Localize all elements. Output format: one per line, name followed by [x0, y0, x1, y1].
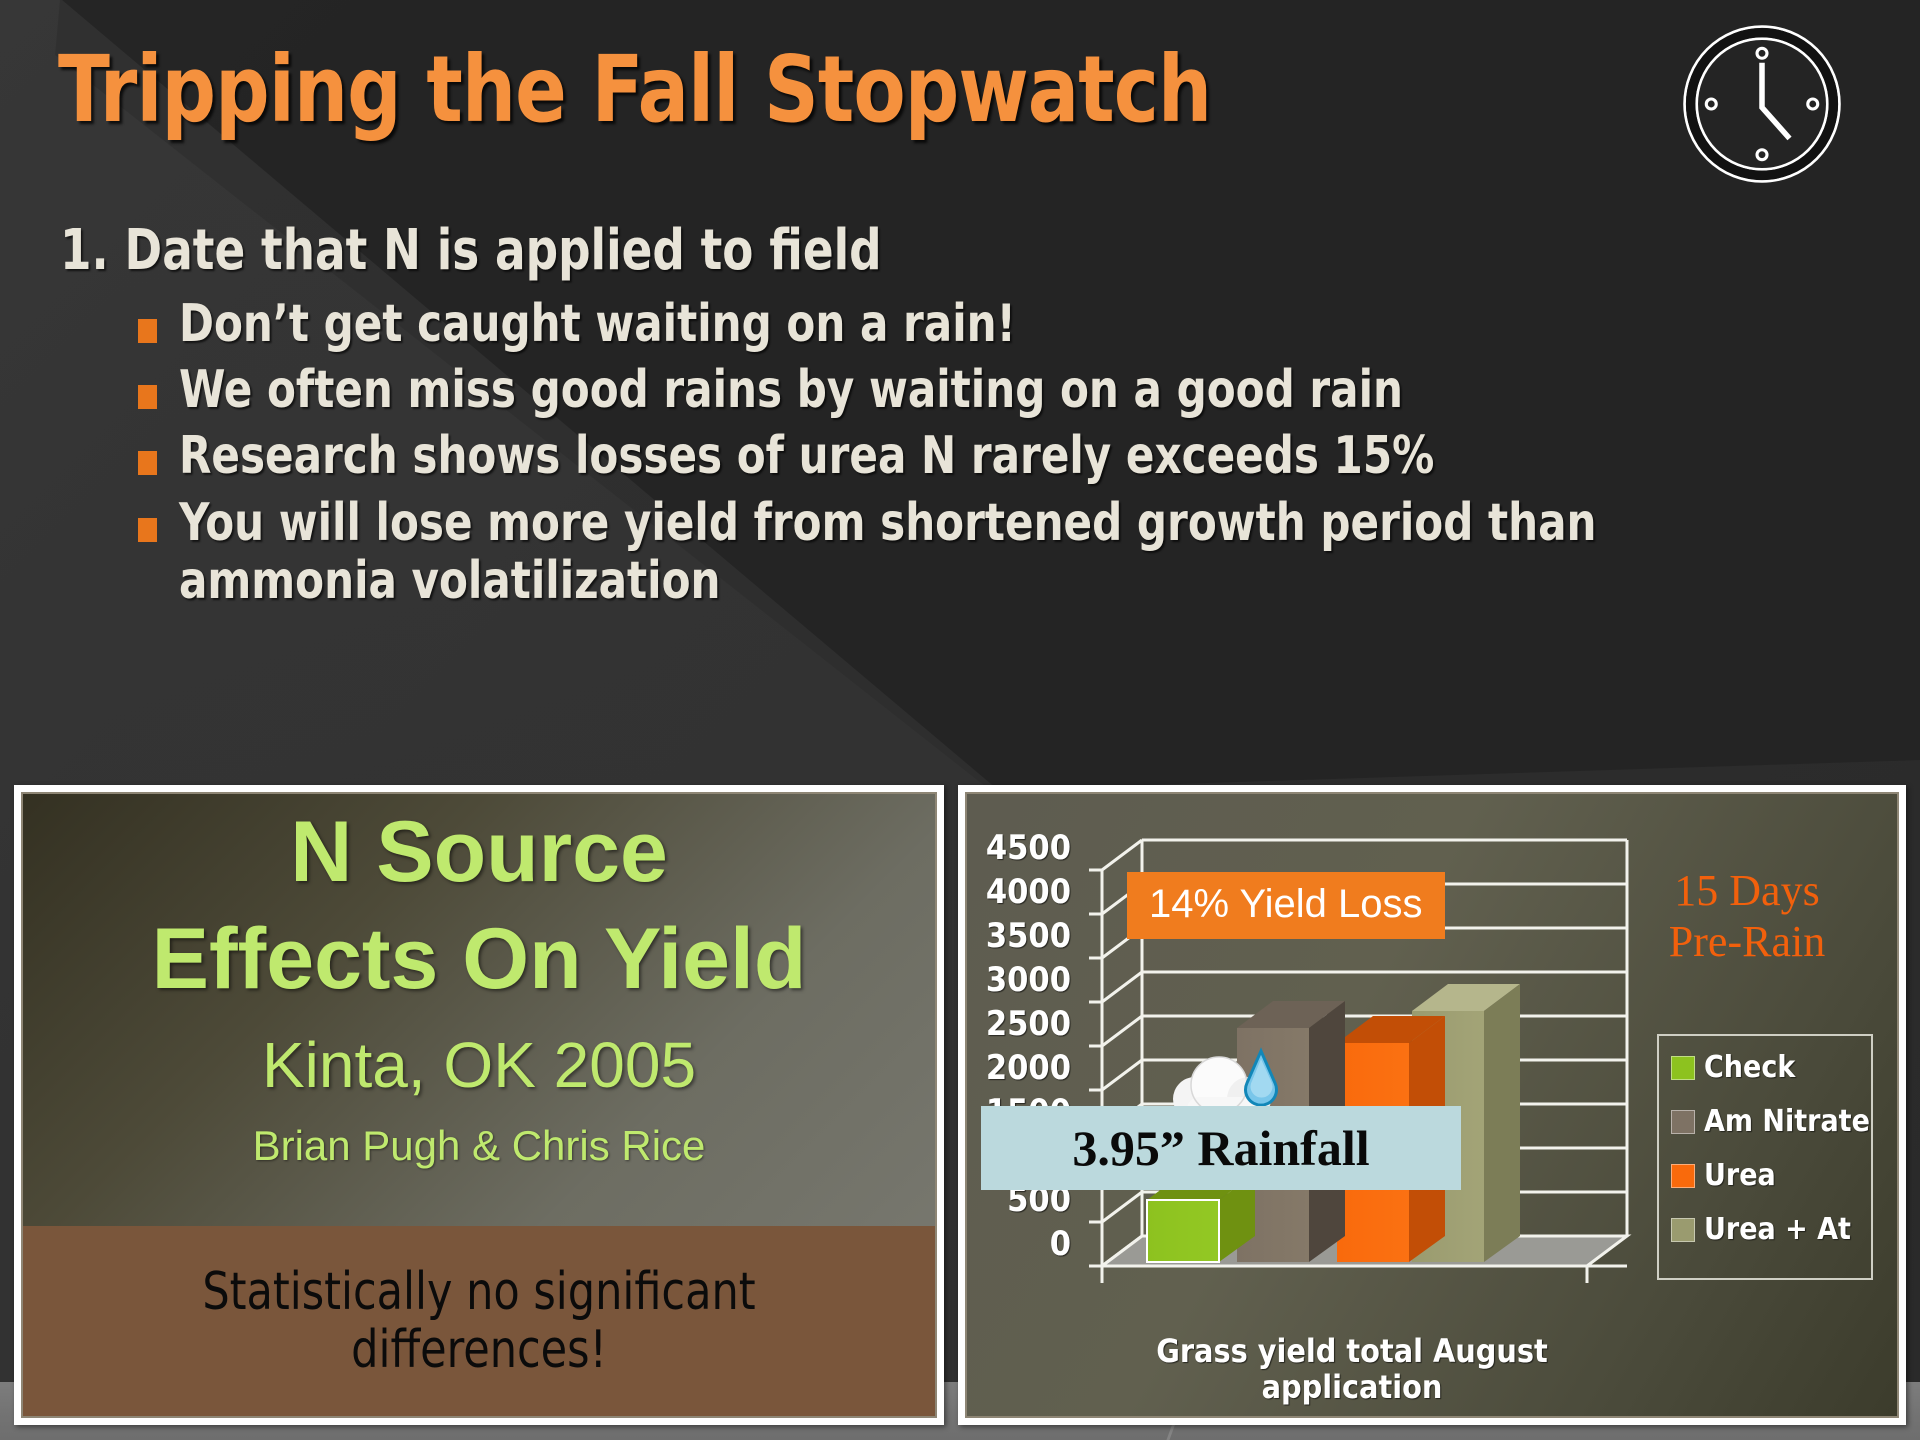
bullet-text: You will lose more yield from shortened …: [179, 494, 1692, 610]
rainfall-banner: 3.95” Rainfall: [981, 1106, 1461, 1190]
slide: Tripping the Fall Stopwatch 1. Date that…: [0, 0, 1920, 1440]
study-title-panel: N Source Effects On Yield Kinta, OK 2005…: [14, 785, 944, 1425]
chart-legend: Check Am Nitrate Urea Urea + At: [1657, 1034, 1873, 1280]
chart-panel-inner: 4500 4000 3500 3000 2500 2000 1500 1000 …: [965, 792, 1899, 1418]
legend-label-urea-at: Urea + At: [1704, 1212, 1851, 1247]
sub-bullet-list: Don’t get caught waiting on a rain! We o…: [60, 295, 1860, 610]
bullet-text: Don’t get caught waiting on a rain!: [179, 295, 1016, 353]
conclusion-bar: Statistically no significant differences…: [23, 1226, 935, 1416]
study-title-line1: N Source: [23, 810, 935, 894]
legend-item-urea: Urea: [1671, 1158, 1871, 1193]
list-item: We often miss good rains by waiting on a…: [60, 361, 1860, 419]
list-item: Don’t get caught waiting on a rain!: [60, 295, 1860, 353]
clock-icon: [1676, 18, 1848, 190]
bar-chart: 4500 4000 3500 3000 2500 2000 1500 1000 …: [967, 794, 1897, 1416]
legend-item-check: Check: [1671, 1050, 1871, 1085]
legend-label-am-nitrate: Am Nitrate: [1704, 1104, 1870, 1139]
yield-loss-badge: 14% Yield Loss: [1127, 872, 1445, 939]
study-title-text-area: N Source Effects On Yield Kinta, OK 2005…: [23, 794, 935, 1170]
study-authors: Brian Pugh & Chris Rice: [23, 1122, 935, 1170]
x-axis-title: Grass yield total August application: [1117, 1334, 1587, 1406]
legend-label-check: Check: [1704, 1050, 1795, 1085]
study-title-line2: Effects On Yield: [23, 916, 935, 1002]
rainfall-text: 3.95” Rainfall: [1072, 1119, 1369, 1177]
pre-rain-annotation: 15 Days Pre-Rain: [1622, 866, 1872, 967]
study-location-year: Kinta, OK 2005: [23, 1028, 935, 1102]
body-content: 1. Date that N is applied to field Don’t…: [60, 218, 1860, 618]
bullet-text: Research shows losses of urea N rarely e…: [179, 427, 1434, 485]
legend-label-urea: Urea: [1704, 1158, 1776, 1193]
legend-swatch-am-nitrate: [1671, 1110, 1695, 1134]
chart-panel: 4500 4000 3500 3000 2500 2000 1500 1000 …: [958, 785, 1906, 1425]
square-bullet-icon: [138, 518, 157, 542]
pre-rain-line2: Pre-Rain: [1622, 917, 1872, 968]
bullet-text: We often miss good rains by waiting on a…: [179, 361, 1403, 419]
pre-rain-line1: 15 Days: [1622, 866, 1872, 917]
legend-swatch-check: [1671, 1056, 1695, 1080]
legend-swatch-urea-at: [1671, 1218, 1695, 1242]
numbered-item: 1. Date that N is applied to field: [60, 218, 1680, 283]
legend-item-urea-at: Urea + At: [1671, 1212, 1871, 1247]
square-bullet-icon: [138, 319, 157, 343]
conclusion-text: Statistically no significant differences…: [59, 1263, 898, 1379]
slide-title: Tripping the Fall Stopwatch: [58, 36, 1211, 143]
square-bullet-icon: [138, 451, 157, 475]
list-item: Research shows losses of urea N rarely e…: [60, 427, 1860, 485]
list-item: You will lose more yield from shortened …: [60, 494, 1860, 610]
study-title-panel-inner: N Source Effects On Yield Kinta, OK 2005…: [21, 792, 937, 1418]
square-bullet-icon: [138, 385, 157, 409]
legend-swatch-urea: [1671, 1164, 1695, 1188]
legend-item-am-nitrate: Am Nitrate: [1671, 1104, 1871, 1139]
